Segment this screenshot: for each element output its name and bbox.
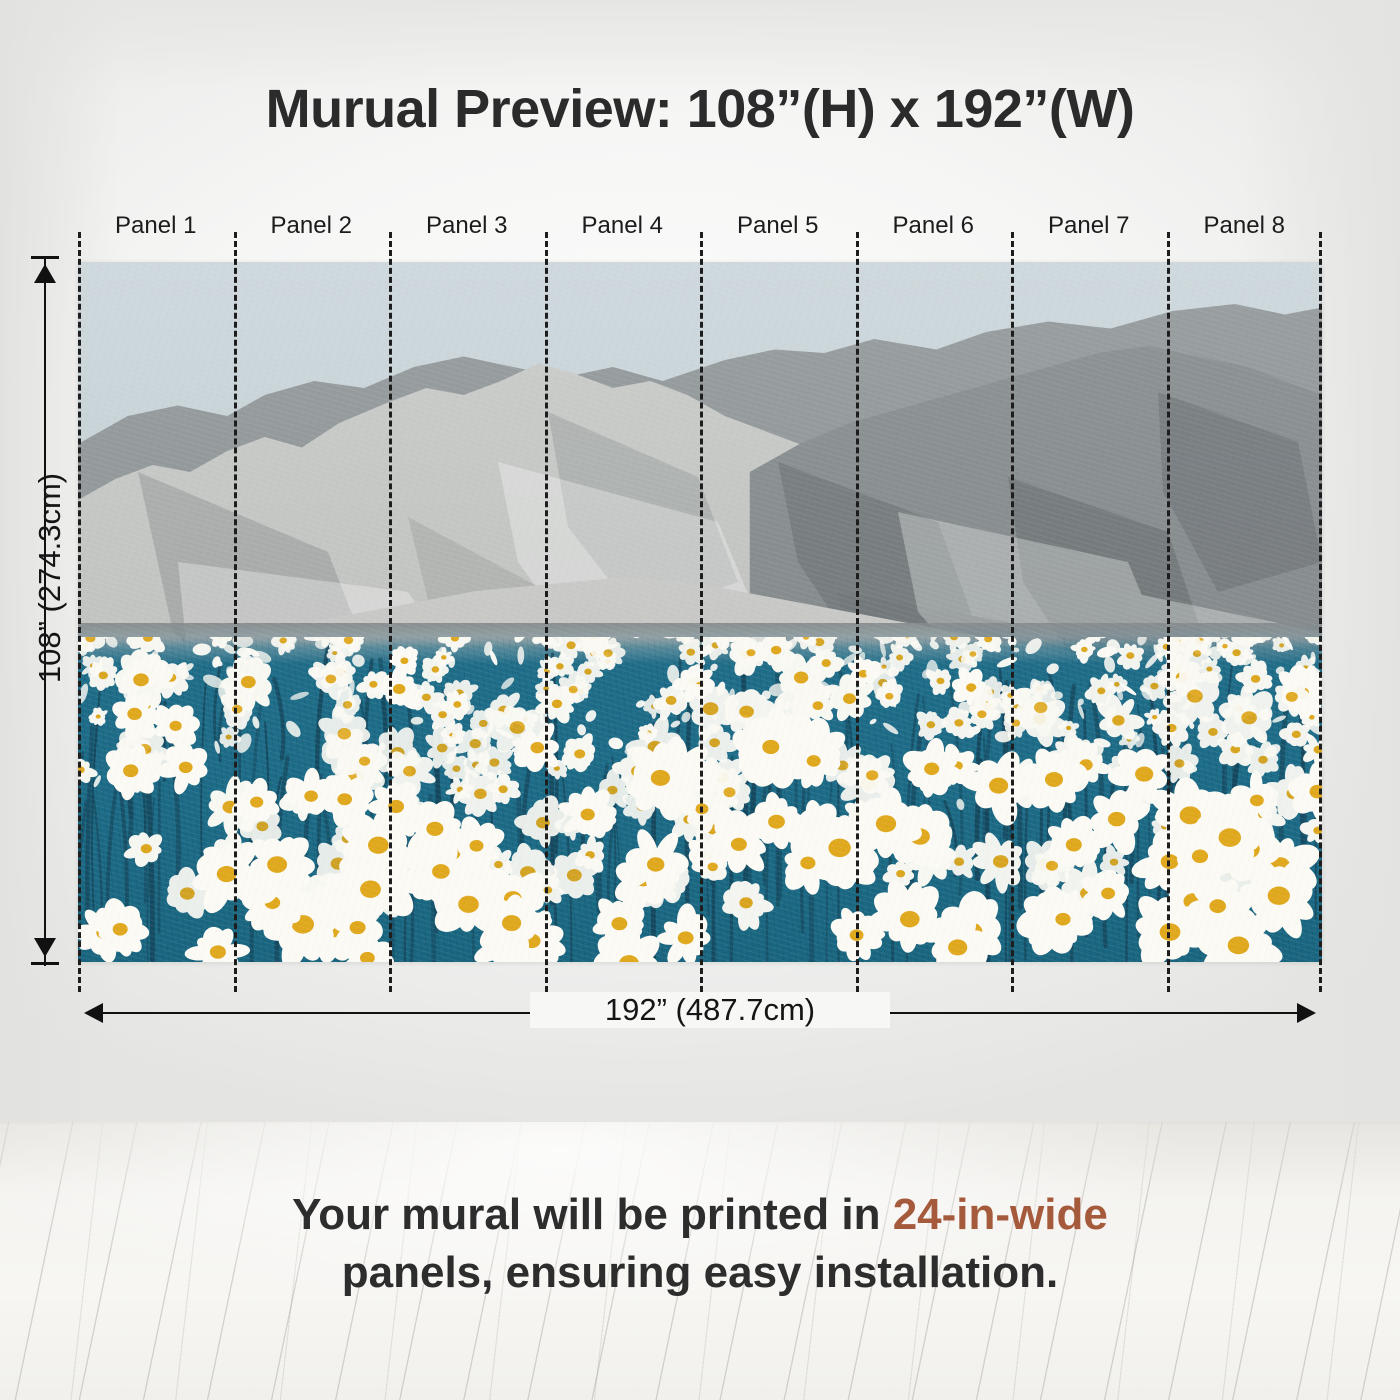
- caption-line-2: panels, ensuring easy installation.: [80, 1244, 1320, 1302]
- height-dimension-label: 108” (274.3cm): [32, 408, 68, 748]
- panel-divider-0: [78, 232, 81, 992]
- page-title: Murual Preview: 108”(H) x 192”(W): [0, 78, 1400, 140]
- mural-preview-page: Murual Preview: 108”(H) x 192”(W): [0, 0, 1400, 1400]
- panel-divider-5: [856, 232, 859, 992]
- caption-line-1-text: Your mural will be printed in: [292, 1190, 893, 1239]
- caption-accent-text: 24-in-wide: [893, 1190, 1108, 1239]
- caption-line-1: Your mural will be printed in 24-in-wide: [80, 1186, 1320, 1244]
- width-dimension-label: 192” (487.7cm): [530, 992, 890, 1028]
- panel-divider-7: [1167, 232, 1170, 992]
- width-dimension-arrow-right-icon: [1297, 1003, 1316, 1023]
- installation-caption: Your mural will be printed in 24-in-wide…: [80, 1186, 1320, 1302]
- height-dimension-cap-bottom: [31, 962, 59, 965]
- panel-divider-3: [545, 232, 548, 992]
- panel-divider-6: [1011, 232, 1014, 992]
- panel-divider-1: [234, 232, 237, 992]
- panel-divider-4: [700, 232, 703, 992]
- panel-divider-8: [1319, 232, 1322, 992]
- wall-shadow-top: [0, 0, 1400, 90]
- panel-divider-2: [389, 232, 392, 992]
- height-dimension-arrow-down-icon: [34, 938, 56, 957]
- width-dimension-arrow-left-icon: [84, 1003, 103, 1023]
- panel-divider-lines: [78, 232, 1322, 992]
